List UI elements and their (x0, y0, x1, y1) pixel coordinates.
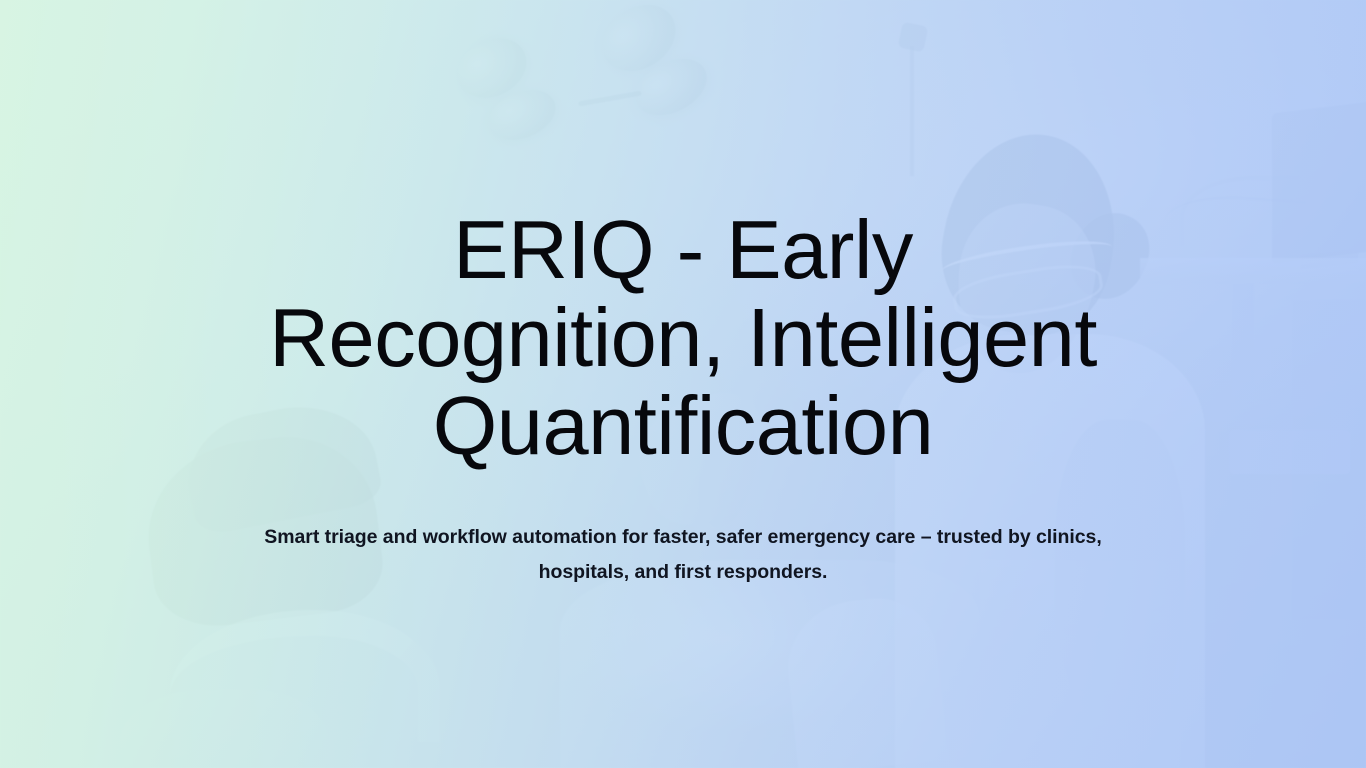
hero-section: ERIQ - Early Recognition, Intelligent Qu… (0, 0, 1366, 768)
page-title: ERIQ - Early Recognition, Intelligent Qu… (223, 206, 1143, 470)
hero-subheadline: Smart triage and workflow automation for… (263, 520, 1103, 591)
hero-content: ERIQ - Early Recognition, Intelligent Qu… (0, 0, 1366, 768)
